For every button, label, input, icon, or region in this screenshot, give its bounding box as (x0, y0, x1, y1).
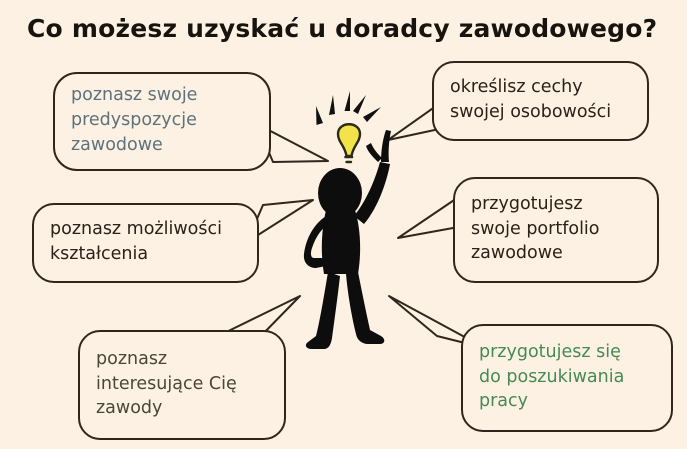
speech-bubble-mozliwosci-ksztalcenia[interactable]: poznasz możliwości kształcenia (32, 203, 259, 283)
speech-bubble-portfolio-zawodowe[interactable]: przygotujesz swoje portfolio zawodowe (453, 177, 659, 283)
bubble-line: przygotujesz (471, 192, 641, 217)
bubble-line: poznasz swoje (71, 83, 253, 108)
figure-pointing-finger (381, 130, 391, 162)
speech-bubble-cechy-osobowosci[interactable]: określisz cechy swojej osobowości (432, 61, 649, 141)
bubble-line: zawody (96, 396, 268, 421)
figure-right-leg (346, 272, 384, 344)
figure-thumb (366, 143, 382, 162)
bubble-line: kształcenia (50, 242, 241, 267)
bubble-line: interesujące Cię (96, 372, 268, 397)
bubble-line: poznasz możliwości (50, 217, 241, 242)
bubble-line: zawodowe (471, 241, 641, 266)
idea-rays-icon (316, 91, 381, 125)
bubble-line: do poszukiwania (479, 365, 655, 390)
bubble-line: swoje portfolio (471, 217, 641, 242)
bubble-line: przygotujesz się (479, 340, 655, 365)
bubble-line: pracy (479, 389, 655, 414)
figure-torso (322, 210, 360, 274)
bubble-line: określisz cechy (450, 75, 631, 100)
speech-bubble-interesujace-zawody[interactable]: poznasz interesujące Cię zawody (78, 330, 286, 440)
lightbulb-icon (338, 124, 360, 162)
bubble-line: predyspozycje (71, 108, 253, 133)
speech-bubble-predyspozycje[interactable]: poznasz swoje predyspozycje zawodowe (53, 72, 271, 171)
page-title: Co możesz uzyskać u doradcy zawodowego? (27, 14, 657, 43)
speech-bubble-poszukiwanie-pracy[interactable]: przygotujesz się do poszukiwania pracy (461, 324, 673, 432)
bubble-line: zawodowe (71, 133, 253, 158)
career-advisor-infographic: Co możesz uzyskać u doradcy zawodowego? (0, 0, 687, 449)
figure-left-leg (306, 272, 340, 349)
stick-figure-icon (286, 88, 414, 350)
bubble-line: poznasz (96, 347, 268, 372)
bubble-line: swojej osobowości (450, 100, 631, 125)
